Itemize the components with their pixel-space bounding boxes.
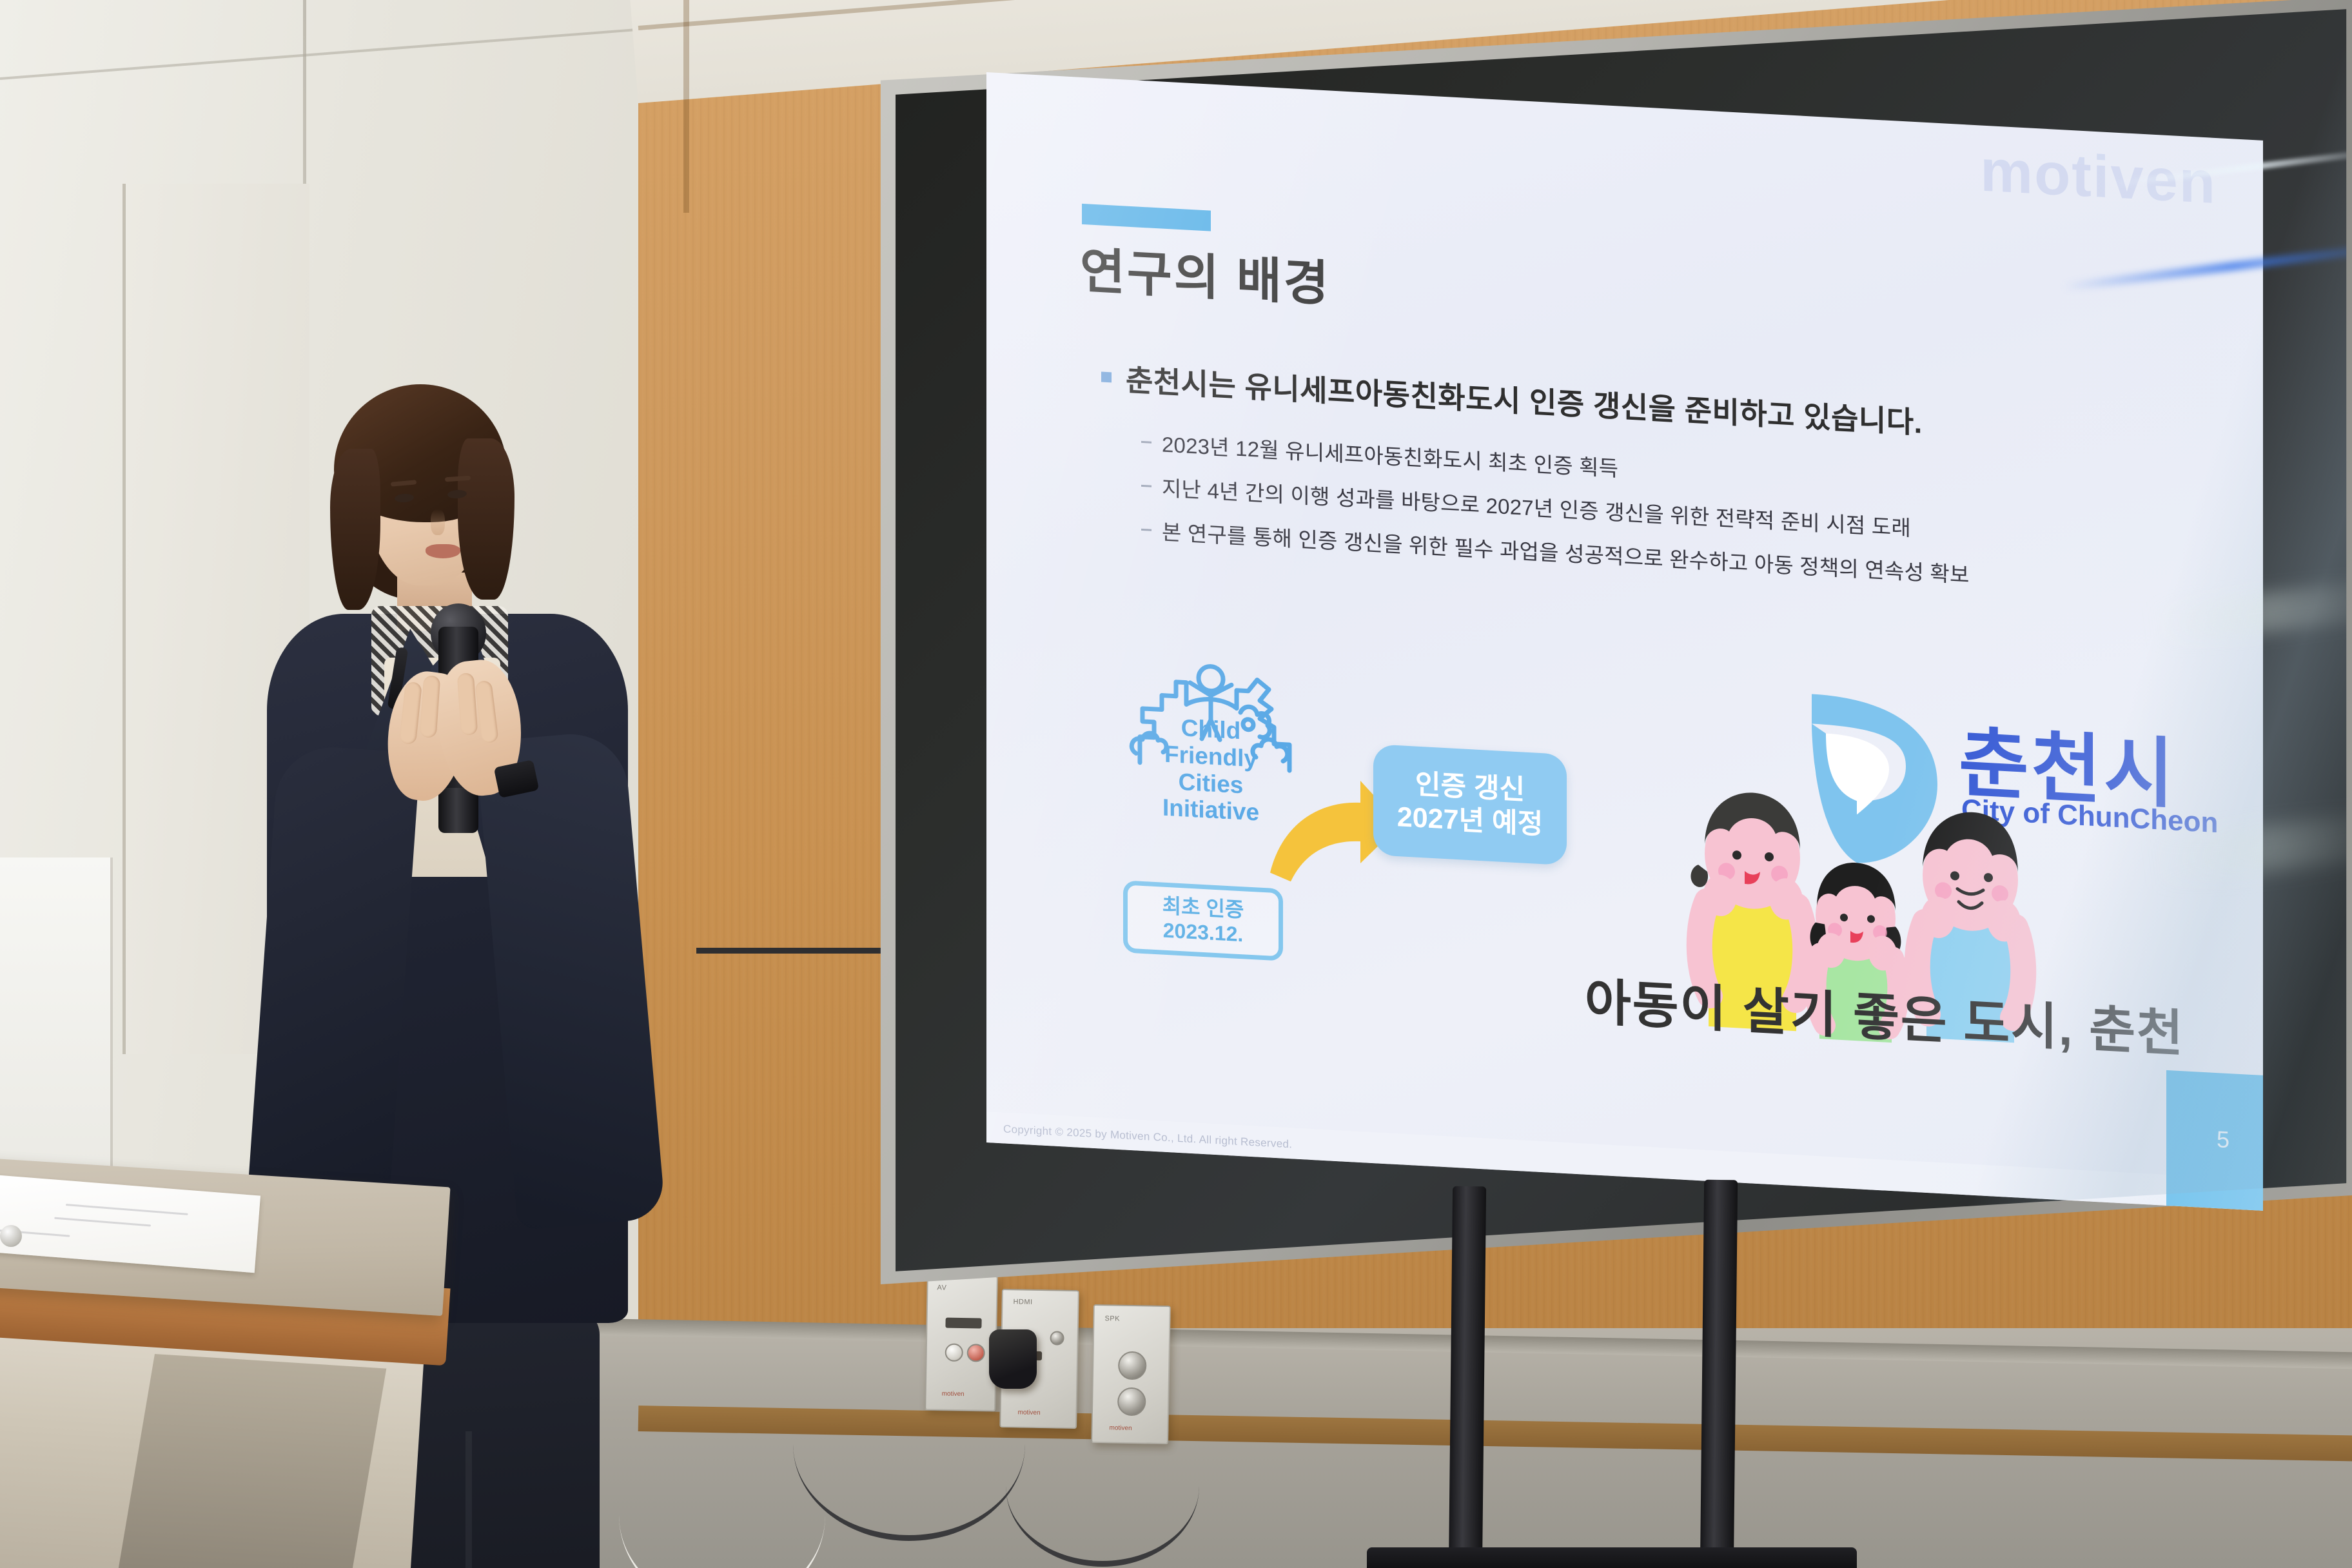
floor-cable-right — [1006, 1406, 1199, 1567]
presenter-hair-side-left — [330, 449, 380, 610]
glare-reflection-soft-2 — [2149, 811, 2352, 885]
presenter-hair-side-right — [458, 438, 514, 600]
glare-streak-white — [2106, 148, 2352, 189]
large-lcd-display[interactable]: motiven 연구의 배경 춘천시는 유니세프아동친화도시 인증 갱신을 준비… — [867, 0, 2352, 1292]
display-stand-leg-right — [1700, 1180, 1738, 1568]
floor-cable-main — [793, 1347, 1025, 1541]
glare-streak-blue — [2062, 241, 2352, 292]
wood-seam-vertical — [683, 0, 689, 213]
display-stand-leg-left — [1449, 1186, 1486, 1568]
trouser-seam — [465, 1431, 472, 1568]
glare-reflection-soft-1 — [2150, 578, 2352, 645]
podium-body-shadow — [118, 1354, 386, 1568]
presenter-mouth — [426, 544, 460, 558]
display-reflection — [867, 0, 2352, 1292]
display-stand-base — [1367, 1547, 1857, 1568]
conference-room-scene: AV motiven HDMI motiven SPK motiven moti… — [0, 0, 2352, 1568]
presenter-nose — [431, 509, 445, 535]
podium-knob — [0, 1225, 22, 1247]
